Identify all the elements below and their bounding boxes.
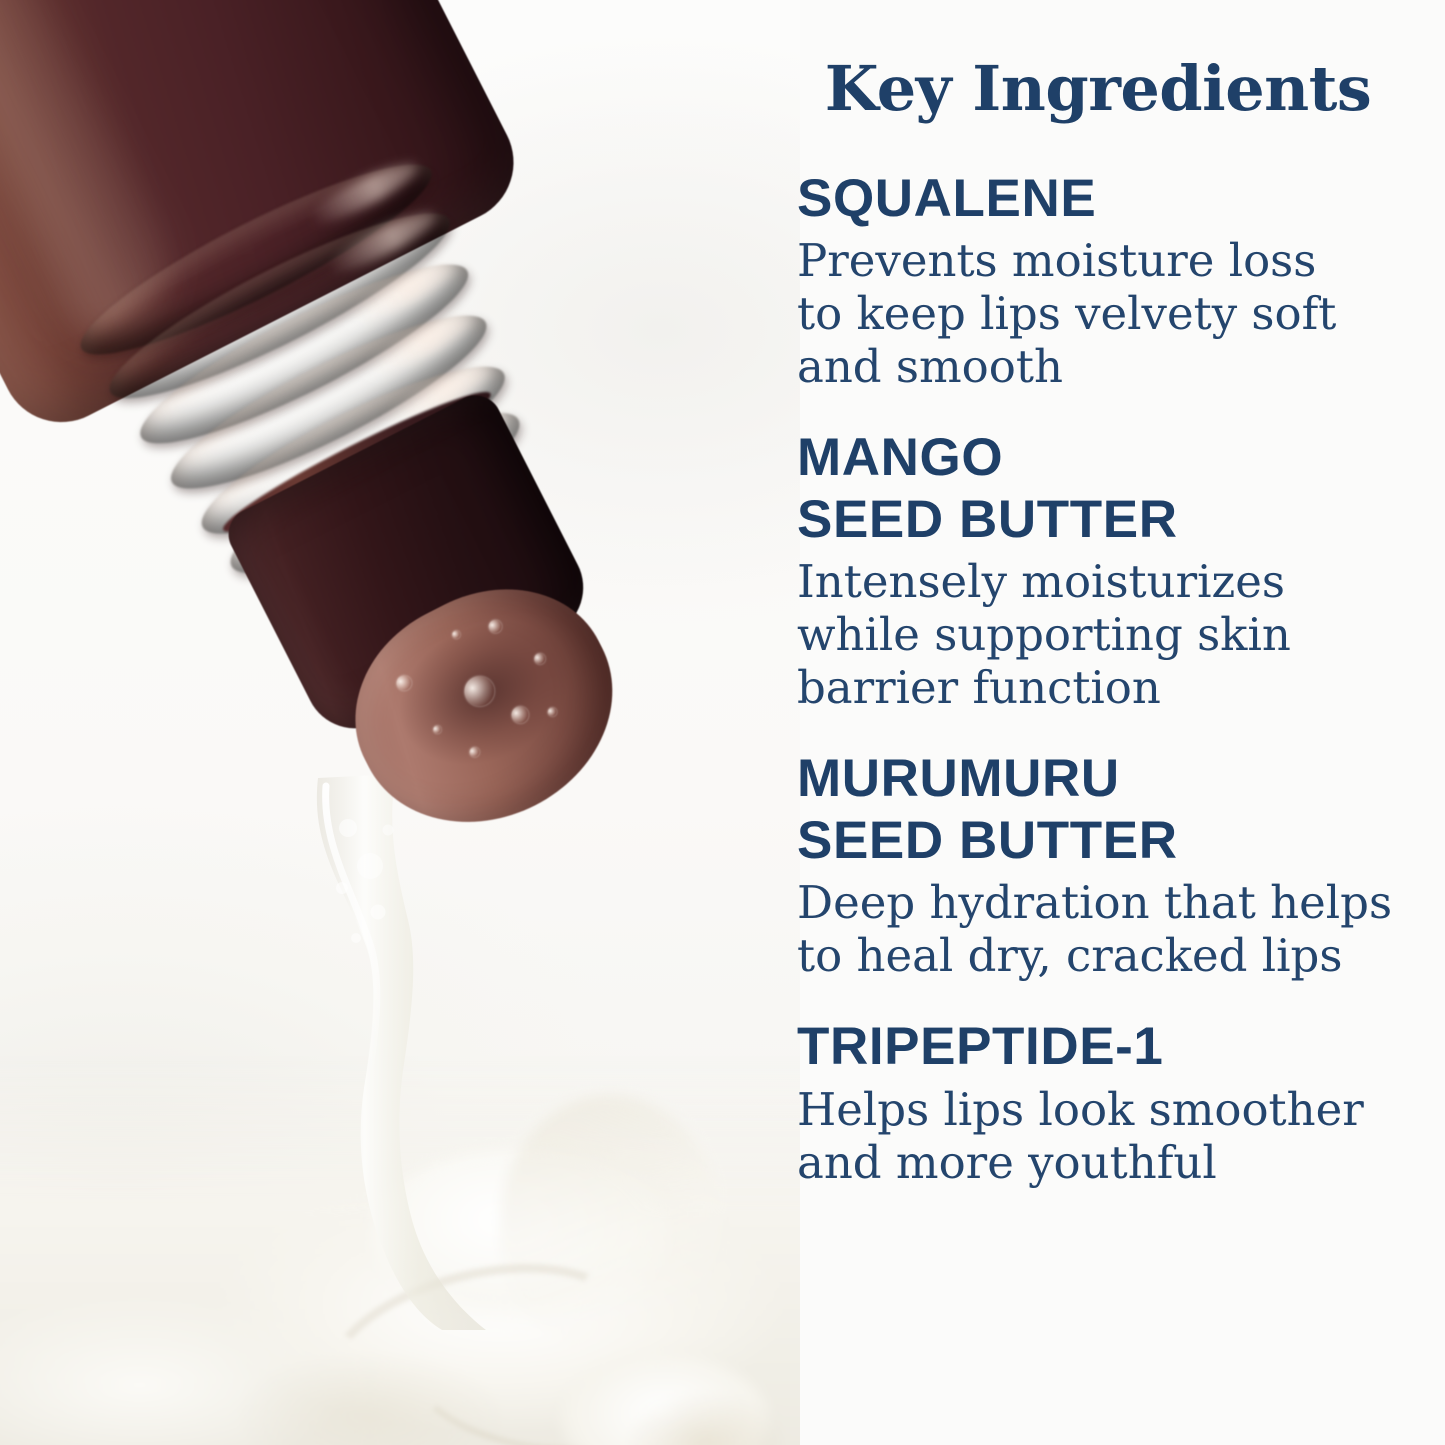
ingredient-desc-line: to keep lips velvety soft: [797, 288, 1417, 341]
product-photo: [0, 0, 800, 1445]
ingredient-block-murumuru-seed-butter: MURUMURU SEED BUTTER Deep hydration that…: [797, 748, 1417, 982]
ingredient-desc-squalene: Prevents moisture loss to keep lips velv…: [797, 235, 1417, 393]
ingredient-desc-line: barrier function: [797, 662, 1417, 715]
ingredient-desc-mango-seed-butter: Intensely moisturizes while supporting s…: [797, 556, 1417, 714]
ingredient-desc-line: Helps lips look smoother: [797, 1084, 1417, 1137]
ingredient-block-tripeptide-1: TRIPEPTIDE-1 Helps lips look smoother an…: [797, 1016, 1417, 1189]
ingredient-desc-murumuru-seed-butter: Deep hydration that helps to heal dry, c…: [797, 877, 1417, 982]
ingredient-desc-tripeptide-1: Helps lips look smoother and more youthf…: [797, 1084, 1417, 1189]
ingredient-desc-line: Prevents moisture loss: [797, 235, 1417, 288]
ingredients-list: SQUALENE Prevents moisture loss to keep …: [797, 168, 1417, 1189]
ingredient-name-murumuru-seed-butter: MURUMURU SEED BUTTER: [797, 748, 1417, 871]
ingredient-name-line: SEED BUTTER: [797, 810, 1417, 871]
page-title: Key Ingredients: [793, 56, 1403, 121]
ingredient-block-mango-seed-butter: MANGO SEED BUTTER Intensely moisturizes …: [797, 427, 1417, 714]
ingredient-desc-line: while supporting skin: [797, 609, 1417, 662]
ingredient-desc-line: Intensely moisturizes: [797, 556, 1417, 609]
ingredient-name-mango-seed-butter: MANGO SEED BUTTER: [797, 427, 1417, 550]
ingredient-name-line: SQUALENE: [797, 168, 1417, 229]
ingredient-name-line: SEED BUTTER: [797, 489, 1417, 550]
ingredients-panel: Key Ingredients SQUALENE Prevents moistu…: [793, 0, 1445, 1445]
ingredient-name-tripeptide-1: TRIPEPTIDE-1: [797, 1016, 1417, 1077]
product-ingredients-graphic: Key Ingredients SQUALENE Prevents moistu…: [0, 0, 1445, 1445]
ingredient-block-squalene: SQUALENE Prevents moisture loss to keep …: [797, 168, 1417, 393]
ingredient-name-line: MANGO: [797, 427, 1417, 488]
ingredient-desc-line: and more youthful: [797, 1137, 1417, 1190]
ingredient-name-line: MURUMURU: [797, 748, 1417, 809]
ingredient-name-squalene: SQUALENE: [797, 168, 1417, 229]
ingredient-desc-line: to heal dry, cracked lips: [797, 930, 1417, 983]
cream-pool: [0, 1055, 800, 1445]
ingredient-name-line: TRIPEPTIDE-1: [797, 1016, 1417, 1077]
ingredient-desc-line: Deep hydration that helps: [797, 877, 1417, 930]
ingredient-desc-line: and smooth: [797, 341, 1417, 394]
